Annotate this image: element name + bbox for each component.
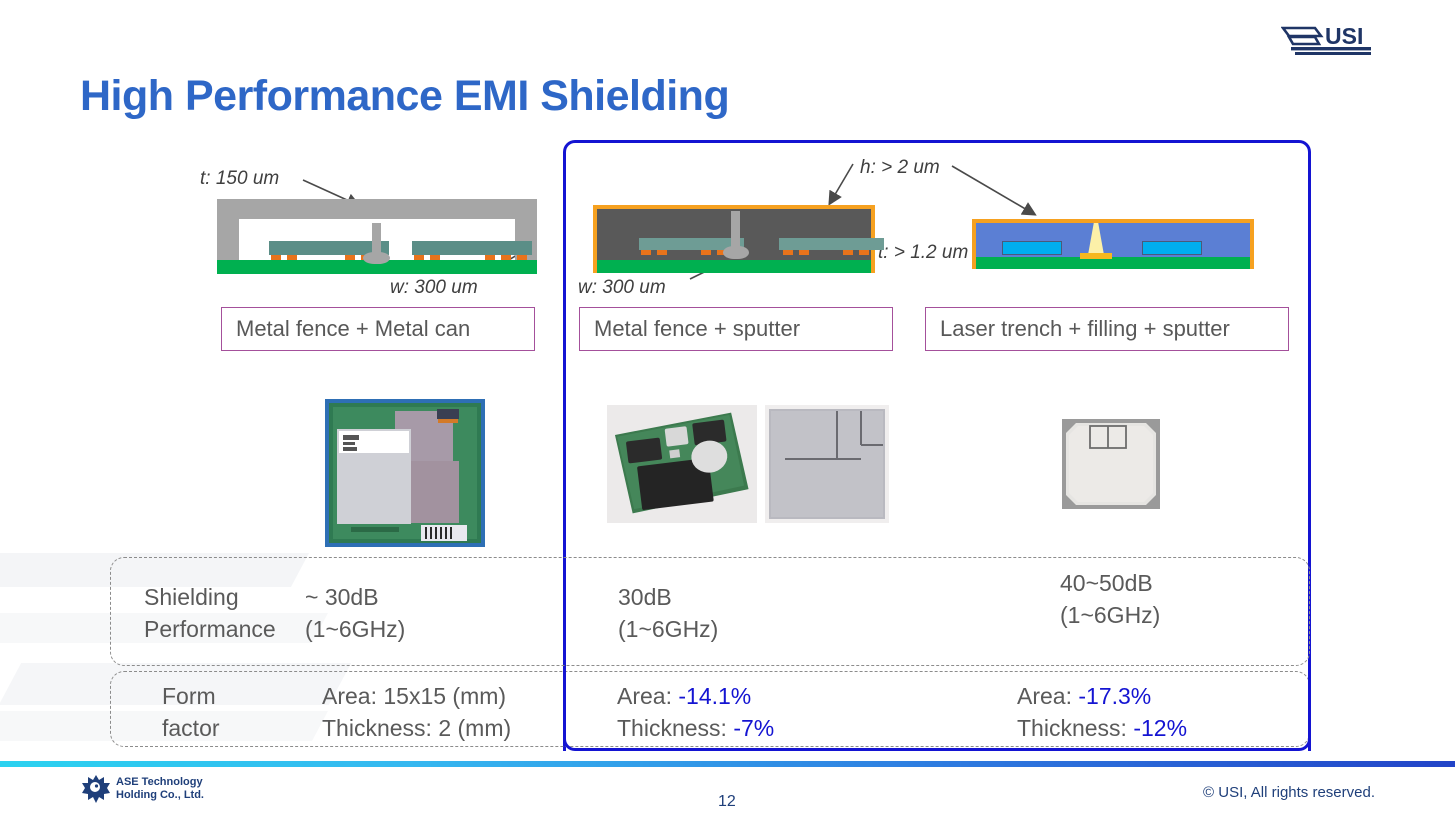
photo-sputtered-module: [765, 405, 889, 523]
process-label-metal-can[interactable]: Metal fence + Metal can: [221, 307, 535, 351]
usi-logo: USI: [1281, 18, 1373, 60]
process-label-text: Metal fence + sputter: [594, 316, 800, 342]
annotation-t12um: t: > 1.2 um: [878, 242, 968, 264]
process-label-text: Metal fence + Metal can: [236, 316, 470, 342]
diagram-laser-trench: [972, 219, 1254, 269]
annotation-w300um-left: w: 300 um: [390, 277, 478, 299]
page-title: High Performance EMI Shielding: [80, 72, 729, 121]
process-label-text: Laser trench + filling + sputter: [940, 316, 1230, 342]
process-label-metal-fence-sputter[interactable]: Metal fence + sputter: [579, 307, 893, 351]
cell-form-factor-col1: Area: 15x15 (mm) Thickness: 2 (mm): [322, 681, 511, 744]
annotation-t150um: t: 150 um: [200, 168, 279, 190]
svg-text:USI: USI: [1325, 23, 1363, 49]
row-label-shielding: Shielding Performance: [144, 582, 276, 645]
footer-divider: [0, 761, 1455, 767]
cell-shielding-col2: 30dB (1~6GHz): [618, 582, 718, 645]
process-label-laser-trench[interactable]: Laser trench + filling + sputter: [925, 307, 1289, 351]
diagram-metal-fence-sputter: [593, 205, 875, 273]
highlight-frame-lower: [563, 666, 1311, 751]
diagram-metal-can: [217, 199, 537, 274]
ase-company-name: ASE Technology Holding Co., Ltd.: [116, 776, 204, 804]
cell-shielding-col1: ~ 30dB (1~6GHz): [305, 582, 405, 645]
photo-pcb-metal-cans: [325, 399, 485, 547]
photo-laser-trench-module: [1062, 419, 1160, 509]
annotation-h2um: h: > 2 um: [860, 157, 940, 179]
ase-logo-icon: [82, 775, 110, 803]
row-label-form-factor: Form factor: [162, 681, 220, 744]
annotation-w300um-mid: w: 300 um: [578, 277, 666, 299]
photo-module-pcb: [607, 405, 757, 523]
cell-shielding-col3: 40~50dB (1~6GHz): [1060, 568, 1160, 631]
copyright-notice: © USI, All rights reserved.: [1203, 784, 1375, 801]
page-number: 12: [718, 793, 736, 811]
